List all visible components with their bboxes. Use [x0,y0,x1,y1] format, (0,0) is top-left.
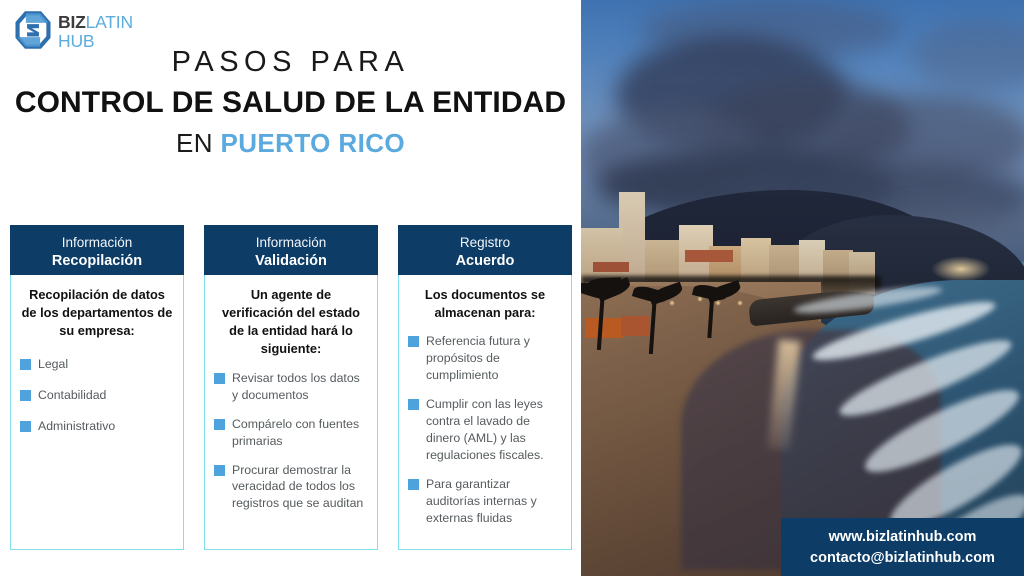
list-item: Procurar demostrar la veracidad de todos… [214,462,368,513]
coastal-city-photo [581,0,1024,576]
step-header-2-bottom: Validación [210,252,372,271]
bullet-text: Compárelo con fuentes primarias [232,416,368,450]
step-header-2-top: Información [210,235,372,252]
bullet-square-icon [20,421,31,432]
title-sub-prefix: EN [176,128,213,158]
bullet-text: Referencia futura y propósitos de cumpli… [426,333,562,384]
step-body-1: Recopilación de datos de los departament… [10,275,184,550]
step-header-1-top: Información [16,235,178,252]
step-header-3-bottom: Acuerdo [404,252,566,271]
contact-email[interactable]: contacto@bizlatinhub.com [810,548,995,569]
list-item: Administrativo [20,418,174,435]
list-item: Cumplir con las leyes contra el lavado d… [408,396,562,464]
step-header-3-top: Registro [404,235,566,252]
title-subline: EN PUERTO RICO [0,125,581,163]
bullet-square-icon [214,373,225,384]
step-body-1-title: Recopilación de datos de los departament… [20,286,174,340]
red-roof [685,250,733,262]
street-lamp-light [737,300,743,306]
step-2-bullet-list: Revisar todos los datos y documentos Com… [214,370,368,513]
list-item: Para garantizar auditorías internas y ex… [408,476,562,527]
bullet-text: Procurar demostrar la veracidad de todos… [232,462,368,513]
step-body-2-title: Un agente de verificación del estado de … [214,286,368,359]
title-sub-country: PUERTO RICO [221,128,406,158]
bullet-square-icon [214,419,225,430]
step-body-2: Un agente de verificación del estado de … [204,275,378,550]
brand-name-latin: LATIN [86,12,133,32]
bullet-square-icon [214,465,225,476]
bullet-square-icon [408,399,419,410]
step-body-3: Los documentos se almacenan para: Refere… [398,275,572,550]
title-eyebrow: PASOS PARA [0,44,581,80]
bullet-text: Administrativo [38,418,115,435]
bullet-text: Cumplir con las leyes contra el lavado d… [426,396,562,464]
orange-building-facade [585,318,623,338]
bullet-square-icon [20,390,31,401]
title-main: CONTROL DE SALUD DE LA ENTIDAD [0,80,581,125]
step-header-2: Información Validación [204,225,378,275]
bullet-text: Para garantizar auditorías internas y ex… [426,476,562,527]
step-column-2: Información Validación Un agente de veri… [204,225,378,550]
step-1-bullet-list: Legal Contabilidad Administrativo [20,356,174,435]
step-header-3: Registro Acuerdo [398,225,572,275]
orange-building-facade [621,316,649,336]
step-column-3: Registro Acuerdo Los documentos se almac… [398,225,572,550]
steps-columns: Información Recopilación Recopilación de… [10,225,574,550]
content-panel: BIZLATIN HUB PASOS PARA CONTROL DE SALUD… [0,0,581,576]
brand-name-biz: BIZ [58,12,86,32]
street-lamp-light [669,300,675,306]
bullet-text: Contabilidad [38,387,106,404]
red-roof [593,262,629,272]
list-item: Revisar todos los datos y documentos [214,370,368,404]
page-title: PASOS PARA CONTROL DE SALUD DE LA ENTIDA… [0,44,581,163]
bullet-text: Revisar todos los datos y documentos [232,370,368,404]
step-3-bullet-list: Referencia futura y propósitos de cumpli… [408,333,562,527]
infographic-canvas: BIZLATIN HUB PASOS PARA CONTROL DE SALUD… [0,0,1024,576]
bullet-square-icon [20,359,31,370]
bullet-square-icon [408,336,419,347]
bullet-text: Legal [38,356,68,373]
list-item: Compárelo con fuentes primarias [214,416,368,450]
step-header-1-bottom: Recopilación [16,252,178,271]
list-item: Legal [20,356,174,373]
bullet-square-icon [408,479,419,490]
step-body-3-title: Los documentos se almacenan para: [408,286,562,322]
list-item: Contabilidad [20,387,174,404]
step-column-1: Información Recopilación Recopilación de… [10,225,184,550]
step-header-1: Información Recopilación [10,225,184,275]
contact-website[interactable]: www.bizlatinhub.com [829,527,977,548]
list-item: Referencia futura y propósitos de cumpli… [408,333,562,384]
contact-box[interactable]: www.bizlatinhub.com contacto@bizlatinhub… [781,518,1024,576]
